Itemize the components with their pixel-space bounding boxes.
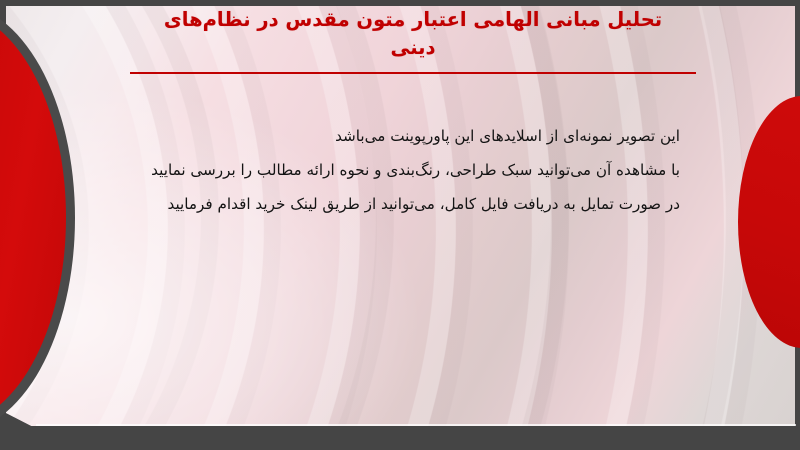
body-line-2: با مشاهده آن می‌توانید سبک طراحی، رنگ‌بن… (120, 154, 680, 188)
slide-body-block: این تصویر نمونه‌ای از اسلایدهای این پاور… (120, 120, 680, 221)
page-title: تحلیل مبانی الهامی اعتبار متون مقدس در ن… (130, 6, 696, 61)
body-line-3: در صورت تمایل به دریافت فایل کامل، می‌تو… (120, 188, 680, 222)
slide-title-block: تحلیل مبانی الهامی اعتبار متون مقدس در ن… (130, 6, 696, 61)
bottom-dark-band (0, 426, 800, 450)
title-divider-rule (130, 72, 696, 74)
body-line-1: این تصویر نمونه‌ای از اسلایدهای این پاور… (120, 120, 680, 154)
presentation-slide: تحلیل مبانی الهامی اعتبار متون مقدس در ن… (0, 0, 800, 450)
